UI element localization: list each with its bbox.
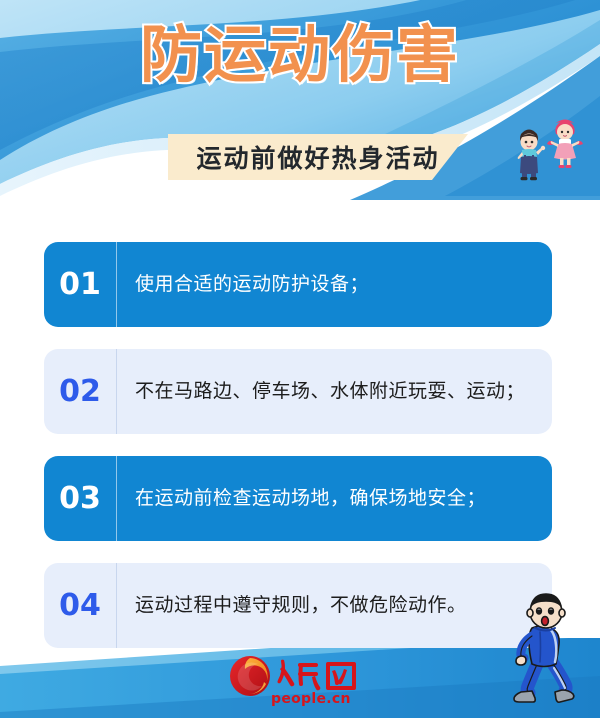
tip-number: 04: [44, 588, 116, 623]
tip-card-02[interactable]: 02 不在马路边、停车场、水体附近玩耍、运动；: [44, 349, 552, 434]
tip-card-03[interactable]: 03 在运动前检查运动场地，确保场地安全；: [44, 456, 552, 541]
tip-card-04[interactable]: 04 运动过程中遵守规则，不做危险动作。: [44, 563, 552, 648]
logo-mark: [230, 656, 270, 696]
tip-text: 不在马路边、停车场、水体附近玩耍、运动；: [117, 379, 552, 404]
tips-list: 01 使用合适的运动防护设备； 02 不在马路边、停车场、水体附近玩耍、运动； …: [44, 242, 552, 670]
poster-title-wrap: 防运动伤害: [0, 22, 600, 89]
two-children-illustration: [508, 112, 594, 186]
page-title: 防运动伤害: [140, 22, 460, 89]
tip-text: 在运动前检查运动场地，确保场地安全；: [117, 486, 552, 511]
tip-number: 01: [44, 267, 116, 302]
subtitle-text: 运动前做好热身活动: [168, 134, 468, 180]
boy-figure: [518, 130, 546, 181]
girl-figure: [547, 120, 583, 169]
tip-text: 使用合适的运动防护设备；: [117, 272, 552, 297]
tip-card-01[interactable]: 01 使用合适的运动防护设备；: [44, 242, 552, 327]
tip-number: 02: [44, 374, 116, 409]
logo-brand-en: people.cn: [271, 691, 351, 706]
running-boy-illustration: [494, 584, 586, 712]
tip-number: 03: [44, 481, 116, 516]
people-cn-logo[interactable]: people.cn: [228, 652, 378, 706]
poster-root: 防运动伤害 运动前做好热身活动: [0, 0, 600, 718]
logo-brand-cn: [278, 660, 357, 691]
tip-text: 运动过程中遵守规则，不做危险动作。: [117, 593, 552, 618]
